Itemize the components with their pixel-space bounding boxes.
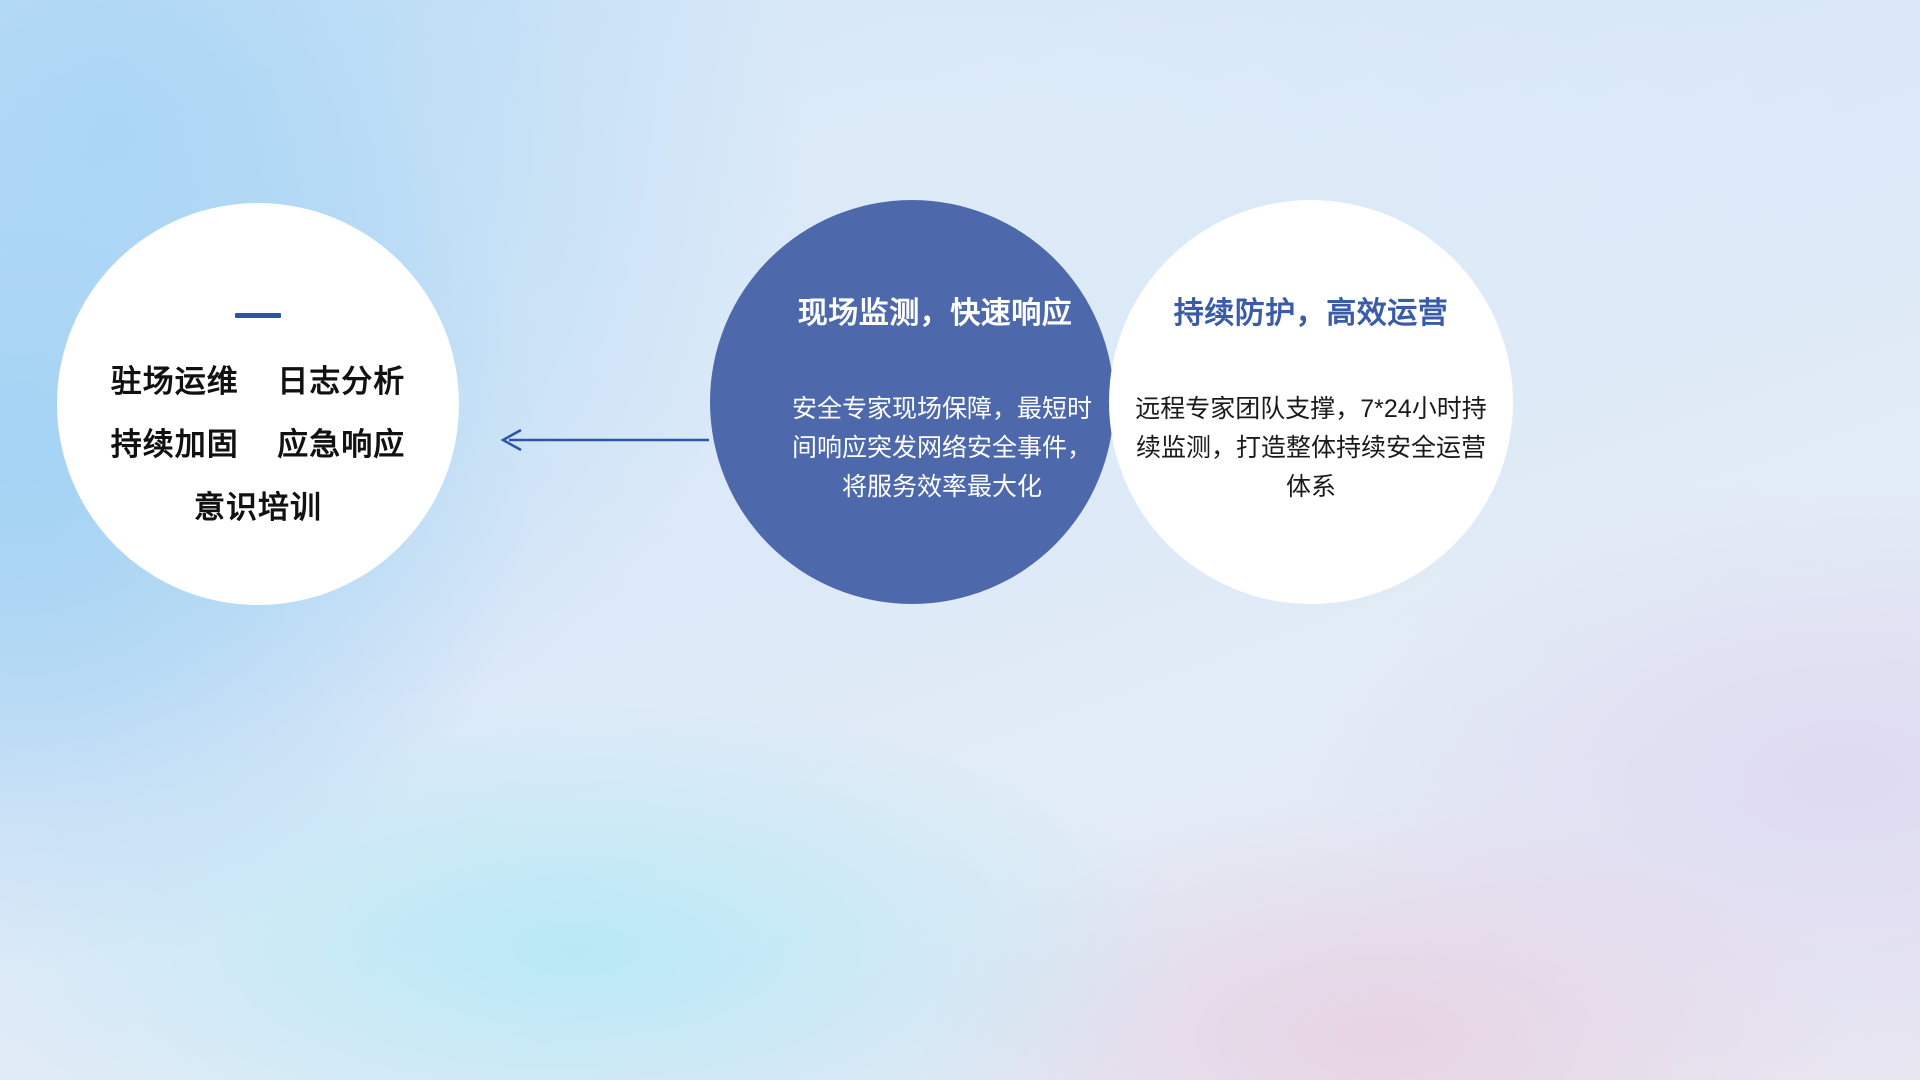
middle-circle-title: 现场监测，快速响应 (798, 288, 1073, 332)
slide-canvas: 驻场运维 日志分析 持续加固 应急响应 意识培训 现场监测，快速响应 安全专家现… (0, 0, 1920, 1080)
right-circle-title: 持续防护，高效运营 (1174, 288, 1449, 332)
middle-circle-body: 安全专家现场保障，最短时间响应突发网络安全事件，将服务效率最大化 (792, 390, 1092, 506)
middle-onsite-circle[interactable]: 现场监测，快速响应 安全专家现场保障，最短时间响应突发网络安全事件，将服务效率最… (710, 200, 1114, 604)
middle-circle-content: 现场监测，快速响应 安全专家现场保障，最短时间响应突发网络安全事件，将服务效率最… (710, 200, 1114, 604)
left-capability-line-2: 持续加固 应急响应 (111, 429, 405, 460)
left-capability-line-1: 驻场运维 日志分析 (111, 366, 405, 397)
divider-dash-icon (235, 313, 281, 318)
flow-arrow-icon (495, 420, 710, 460)
right-circle-content: 持续防护，高效运营 远程专家团队支撑，7*24小时持续监测，打造整体持续安全运营… (1109, 200, 1513, 604)
left-capability-circle[interactable]: 驻场运维 日志分析 持续加固 应急响应 意识培训 (57, 203, 459, 605)
right-operations-circle[interactable]: 持续防护，高效运营 远程专家团队支撑，7*24小时持续监测，打造整体持续安全运营… (1109, 200, 1513, 604)
left-capability-line-3: 意识培训 (194, 492, 322, 523)
left-circle-content: 驻场运维 日志分析 持续加固 应急响应 意识培训 (57, 203, 459, 605)
right-circle-body: 远程专家团队支撑，7*24小时持续监测，打造整体持续安全运营体系 (1135, 390, 1487, 506)
